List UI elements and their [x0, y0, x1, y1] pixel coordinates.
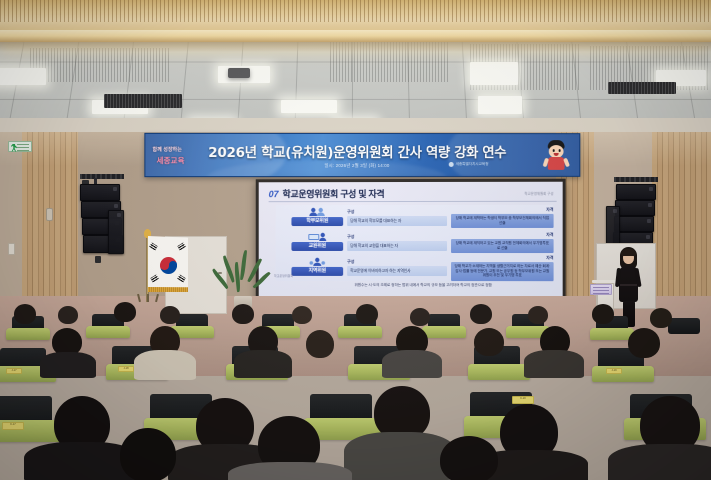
attendee-head [232, 304, 254, 324]
seat-tag: J-19 [606, 368, 622, 374]
seat-tag-text: J-19 [607, 369, 621, 372]
attendee-shoulders [40, 352, 96, 378]
slide-watermark: 학교운영위원회 [271, 274, 297, 288]
slide-category: 교원위원 [291, 232, 343, 253]
seat-tag-text: J-17 [7, 369, 21, 372]
slide-category: 학부모위원 [291, 207, 343, 228]
attendee-head [292, 306, 312, 324]
attendee-shoulders [134, 350, 196, 380]
community-icon [307, 257, 327, 266]
attendee-head [58, 306, 78, 324]
column-header-qualification: 자격 [451, 207, 554, 213]
slide-category: 지역위원 [291, 257, 343, 278]
attendee-head [14, 304, 36, 324]
light-switch-panel[interactable] [8, 243, 15, 255]
seat[interactable] [86, 326, 130, 338]
perforated-panel [30, 48, 170, 82]
category-label: 지역위원 [291, 267, 343, 276]
projection-screen: 07 학교운영위원회 구성 및 자격 학교운영위원회 구성 학부모위원 [256, 179, 566, 304]
presenter-hair-front [621, 249, 636, 256]
mascot-eye [553, 149, 555, 152]
seat-tag: J-18 [118, 366, 134, 372]
speaker-cabinet [80, 184, 120, 201]
seat-tag: K-17 [2, 422, 24, 430]
banner-title: 2026년 학교(유치원)운영위원회 간사 역량 강화 연수 [192, 141, 522, 161]
soffit-perforation [0, 0, 711, 22]
mascot-eye [559, 149, 561, 152]
presenter-belt [620, 284, 637, 286]
banner-subtitle: 일시: 2026년 2월 3일 (화) 14:00 [257, 163, 457, 169]
korean-national-flag [146, 234, 192, 302]
exit-sign [8, 141, 32, 152]
cove-light [0, 30, 711, 42]
seat[interactable] [338, 326, 382, 338]
attendee-head [440, 436, 498, 480]
slide-qualification-cell: 자격 당해 학교가 소재하는 지역을 생활근거지로 하는 자로서 예산·회계·감… [451, 255, 554, 281]
seat[interactable] [590, 328, 634, 340]
trigram [177, 243, 186, 251]
column-header-composition: 구성 [347, 234, 447, 240]
speaker-cabinet [615, 200, 655, 216]
seat[interactable] [422, 326, 466, 338]
wood-soffit [0, 0, 711, 34]
speaker-cabinet [616, 184, 656, 200]
ceiling-led-panel [0, 68, 46, 85]
qualification-text: 당해 학교에 재학하는 학생의 학부모 중 학부모전체회의에서 직접 선출 [451, 214, 554, 228]
attendee-head [160, 306, 180, 324]
seat[interactable] [468, 364, 530, 380]
attendee-head [306, 330, 334, 358]
hvac-vent [608, 82, 676, 94]
attendee-head [628, 328, 660, 358]
slide-row: 교원위원 구성 당해 학교의 교원을 대표하는 자 자격 당해 학교에 재직하고… [276, 231, 554, 254]
attendee-shoulders [524, 350, 584, 378]
attendee-shoulders [228, 462, 352, 480]
org-logo-icon [449, 162, 454, 167]
category-label: 학부모위원 [291, 217, 343, 226]
event-banner: 함께 성장하는 세종교육 2026년 학교(유치원)운영위원회 간사 역량 강화… [144, 133, 580, 177]
slide-corner-label: 학교운영위원회 구성 [524, 191, 553, 196]
seat-tag: J-17 [6, 368, 22, 374]
trigram [150, 275, 159, 283]
slide-composition-cell: 구성 당해 학교의 학부모를 대표하는 자 [347, 209, 447, 226]
attendee-shoulders [234, 350, 292, 378]
flag-cloth [148, 236, 188, 291]
auditorium-scene-photo: 함께 성장하는 세종교육 2026년 학교(유치원)운영위원회 간사 역량 강화… [0, 0, 711, 480]
speaker-cabinet [614, 216, 654, 232]
audience-seating: J-17 J-18 J-19 K-17 [0, 300, 711, 480]
attendee-shoulders [608, 444, 711, 480]
slide-footnote: 위원수는 시·도의 조례로 정하는 범위 내에서 학교의 규모 등을 고려하여 … [328, 283, 518, 288]
attendee-head [356, 304, 378, 324]
parents-icon [307, 207, 327, 216]
seat[interactable] [592, 366, 654, 382]
ceiling-led-panel [281, 100, 337, 113]
slide-content-table: 학부모위원 구성 당해 학교의 학부모를 대표하는 자 자격 당해 학교에 재학… [276, 205, 554, 281]
slide-title: 학교운영위원회 구성 및 자격 [283, 187, 385, 200]
category-label: 교원위원 [291, 242, 343, 251]
attendee-head [410, 308, 430, 326]
presentation-slide: 07 학교운영위원회 구성 및 자격 학교운영위원회 구성 학부모위원 [259, 182, 563, 301]
speaker-cabinet-side [108, 210, 124, 254]
speaker-rigging-truss [614, 177, 658, 182]
slide-qualification-cell: 자격 당해 학교에 재직하고 있는 교원 교직원 전체회의에서 무기명투표로 선… [451, 232, 554, 253]
column-header-composition: 구성 [347, 259, 447, 265]
logo-line-2: 세종교육 [157, 155, 185, 166]
taeguk-symbol [160, 257, 177, 274]
mascot-body [548, 157, 565, 170]
attendee-head [650, 308, 672, 328]
composition-text: 당해 학교의 학부모를 대표하는 자 [347, 216, 447, 226]
plant-leaf [222, 255, 236, 282]
attendee-head [592, 304, 614, 324]
slide-composition-cell: 구성 당해 학교의 교원을 대표하는 자 [347, 234, 447, 251]
slide-row: 학부모위원 구성 당해 학교의 학부모를 대표하는 자 자격 당해 학교에 재학… [276, 206, 554, 229]
attendee-shoulders [344, 432, 456, 480]
column-header-qualification: 자격 [451, 255, 554, 261]
ceiling-led-panel [478, 96, 522, 114]
seat-tag: K-20 [512, 396, 534, 404]
speaker-rigging-truss [80, 174, 124, 179]
org-name: 세종특별자치시교육청 [456, 162, 489, 167]
exit-sign-text [17, 144, 29, 151]
trigram [177, 275, 186, 283]
wall-intercom [46, 208, 53, 221]
slide-row: 지역위원 구성 학교운영에 이바지하고자 하는 지역인사 자격 당해 학교가 소… [276, 256, 554, 279]
seat-tag-text: K-20 [513, 397, 533, 400]
plant-leaf [240, 250, 247, 280]
soffit-shadow [0, 42, 711, 52]
attendee-head [528, 306, 548, 324]
line-array-speaker-stack-left [78, 180, 128, 272]
qualification-text: 당해 학교에 재직하고 있는 교원 교직원 전체회의에서 무기명투표로 선출 [451, 239, 554, 253]
seat-back [668, 318, 700, 334]
slide-composition-cell: 구성 학교운영에 이바지하고자 하는 지역인사 [347, 259, 447, 276]
seat[interactable] [6, 328, 50, 340]
org-logo-mark: 세종특별자치시교육청 [449, 162, 489, 167]
seat-tag-text: K-17 [3, 423, 23, 426]
mascot-icon [542, 139, 572, 173]
column-header-composition: 구성 [347, 209, 447, 215]
ceiling-projector [228, 68, 250, 78]
hvac-vent [104, 94, 182, 108]
attendee-head [114, 302, 136, 322]
logo-line-1: 함께 성장하는 [152, 146, 181, 153]
attendee-head [474, 328, 504, 356]
seat-tag-text: J-18 [119, 367, 133, 370]
column-header-qualification: 자격 [451, 232, 554, 238]
slide-number: 07 [269, 189, 279, 199]
trigram [149, 243, 158, 251]
slide-divider [269, 201, 557, 202]
podium-sign [590, 284, 612, 295]
attendee-head [120, 428, 176, 480]
composition-text: 당해 학교의 교원을 대표하는 자 [347, 241, 447, 251]
attendee-shoulders [382, 350, 442, 378]
teacher-icon [307, 232, 327, 241]
slide-header: 07 학교운영위원회 구성 및 자격 [269, 187, 385, 200]
slide-qualification-cell: 자격 당해 학교에 재학하는 학생의 학부모 중 학부모전체회의에서 직접 선출 [451, 207, 554, 228]
qualification-text: 당해 학교가 소재하는 지역을 생활근거지로 하는 자로서 예산·회계·감사·법… [451, 262, 554, 281]
ceiling-led-panel [470, 62, 518, 85]
speaker-cabinet-side [606, 206, 620, 248]
flag-fringe [148, 287, 188, 292]
attendee-head [470, 304, 492, 324]
composition-text: 학교운영에 이바지하고자 하는 지역인사 [347, 266, 447, 276]
